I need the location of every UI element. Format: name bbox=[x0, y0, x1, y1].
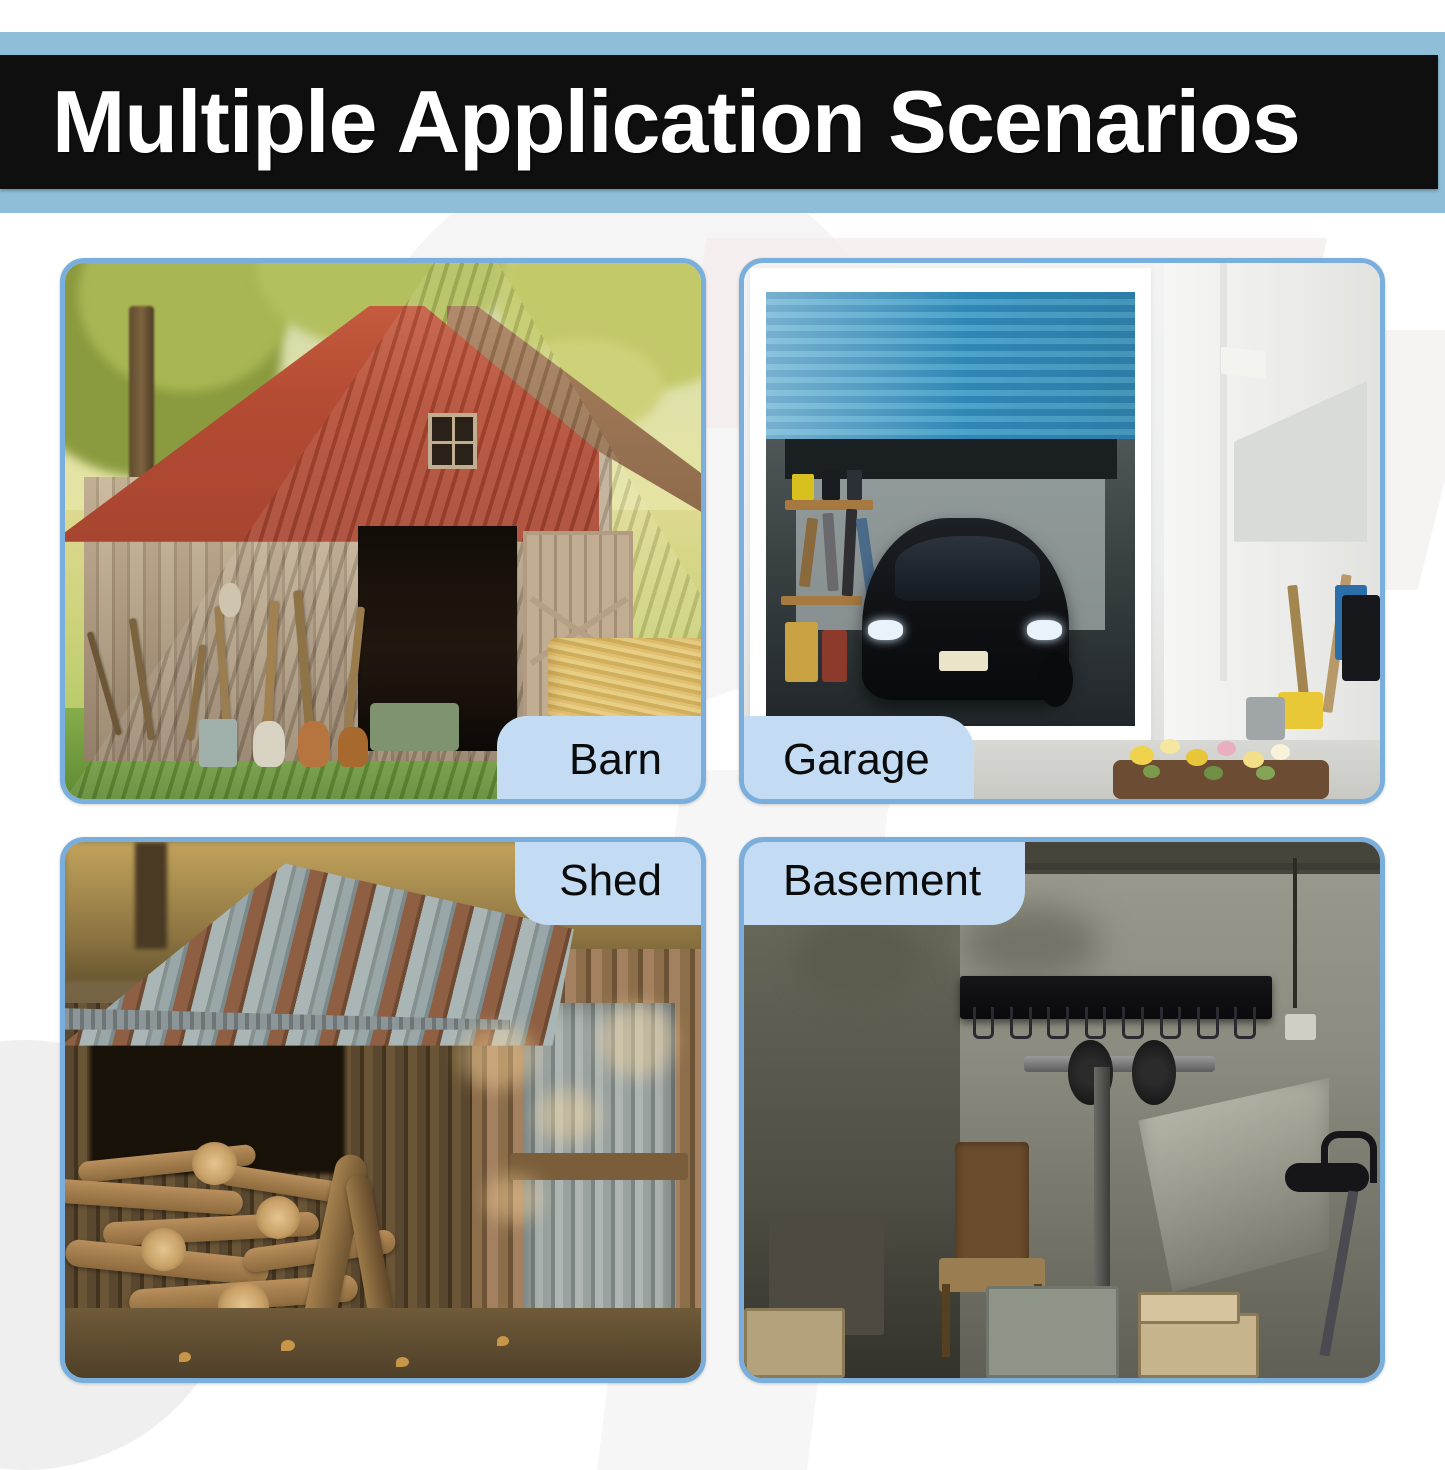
flower-4 bbox=[1217, 741, 1236, 756]
flower-6 bbox=[1271, 744, 1290, 759]
rake-head bbox=[338, 727, 368, 767]
firewood-log-end-1 bbox=[192, 1142, 237, 1185]
scenario-label-barn: Barn bbox=[497, 716, 706, 804]
wall-socket bbox=[1285, 1014, 1317, 1041]
pitchfork-head bbox=[219, 583, 241, 617]
wall-mounted-tool-rack bbox=[960, 976, 1272, 1019]
shed-door-latch bbox=[510, 1153, 688, 1180]
car-windshield bbox=[895, 536, 1039, 602]
flower-foliage-3 bbox=[1256, 766, 1275, 780]
scenario-label-basement: Basement bbox=[739, 837, 1025, 925]
scenario-label-shed: Shed bbox=[515, 837, 706, 925]
rack-hook-2 bbox=[1010, 1007, 1032, 1038]
barbell-bar bbox=[1024, 1056, 1215, 1072]
shed-background-trunk bbox=[135, 842, 167, 949]
weight-plate-right bbox=[1132, 1040, 1177, 1104]
scenario-card-garage[interactable]: Garage bbox=[739, 258, 1385, 804]
car-headlight-right bbox=[1027, 620, 1062, 640]
rack-hook-3 bbox=[1047, 1007, 1069, 1038]
shed-ground bbox=[65, 1308, 701, 1378]
car-headlight-left bbox=[868, 620, 903, 640]
car-license-plate bbox=[939, 651, 989, 671]
rack-hook-1 bbox=[973, 1007, 995, 1038]
shovel-blade-2 bbox=[298, 721, 330, 767]
garage-tool-black bbox=[822, 470, 840, 500]
exercise-bike bbox=[1240, 1131, 1380, 1356]
sun-dapple-1 bbox=[459, 1024, 535, 1088]
garage-yellow-box bbox=[785, 622, 818, 683]
page-title: Multiple Application Scenarios bbox=[52, 71, 1300, 173]
garage-door-frame bbox=[750, 268, 1151, 740]
milk-can bbox=[199, 719, 237, 767]
hanging-cord bbox=[1293, 858, 1297, 1008]
garage-tool-dark bbox=[847, 470, 862, 500]
wall-stain-1 bbox=[795, 917, 922, 1003]
cardboard-box-2 bbox=[1138, 1292, 1239, 1325]
scenario-card-shed[interactable]: Shed bbox=[60, 837, 706, 1383]
wheelbarrow bbox=[370, 703, 459, 751]
car-wheel-right bbox=[1038, 652, 1073, 707]
scenario-label-garage: Garage bbox=[739, 716, 974, 804]
bike-saddle bbox=[1285, 1163, 1369, 1192]
wooden-crate-left bbox=[744, 1308, 845, 1378]
rack-hook-7 bbox=[1197, 1007, 1219, 1038]
chair-back bbox=[955, 1142, 1028, 1266]
scenario-card-barn[interactable]: Barn bbox=[60, 258, 706, 804]
bike-frame bbox=[1319, 1190, 1358, 1356]
barn-loft-window bbox=[428, 413, 477, 469]
garage-wall-seam bbox=[1220, 263, 1227, 681]
flower-bed bbox=[1113, 713, 1329, 799]
chair-leg-left bbox=[942, 1284, 950, 1357]
garage-shelf-lower bbox=[781, 596, 862, 606]
firewood-log-end-2 bbox=[256, 1196, 301, 1239]
rack-hook-4 bbox=[1085, 1007, 1107, 1038]
flower-1 bbox=[1130, 746, 1154, 765]
firewood-log-end-4 bbox=[141, 1228, 186, 1271]
roller-shutter-highlight bbox=[766, 292, 1135, 440]
flower-2 bbox=[1160, 739, 1179, 754]
wall-vent bbox=[1221, 346, 1266, 377]
garage-opening bbox=[766, 292, 1135, 726]
sun-dapple-4 bbox=[485, 1174, 542, 1222]
yard-bicycle bbox=[1342, 595, 1380, 681]
scenario-grid: Barn bbox=[60, 258, 1385, 1385]
garage-tool-yellow bbox=[792, 474, 814, 500]
garage-red-box bbox=[822, 630, 848, 682]
rack-hook-6 bbox=[1160, 1007, 1182, 1038]
header-banner: Multiple Application Scenarios bbox=[0, 55, 1438, 189]
sun-dapple-2 bbox=[536, 1089, 600, 1143]
rack-hook-8 bbox=[1234, 1007, 1256, 1038]
shovel-blade-1 bbox=[253, 721, 285, 767]
garage-shelf-upper bbox=[785, 500, 873, 510]
rack-hook-5 bbox=[1122, 1007, 1144, 1038]
scenario-card-basement[interactable]: Basement bbox=[739, 837, 1385, 1383]
sun-dapple-3 bbox=[599, 1003, 675, 1078]
metal-trunk bbox=[986, 1286, 1119, 1378]
